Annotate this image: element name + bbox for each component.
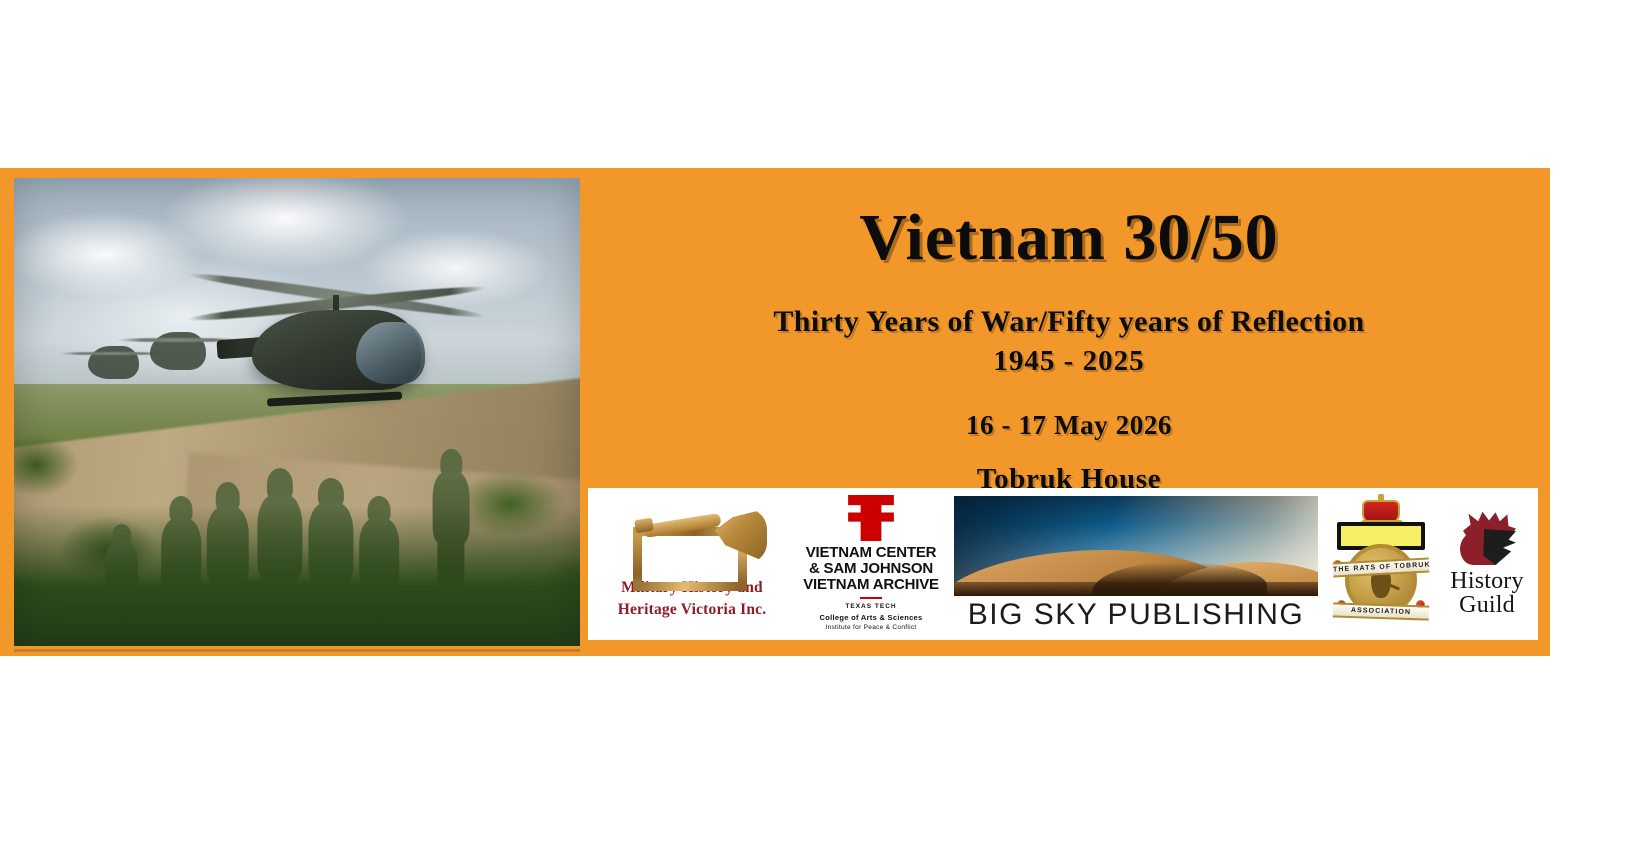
ttu-fine-3: Institute for Peace & Conflict [820, 623, 923, 633]
ttu-fine-print: TEXAS TECH College of Arts & Sciences In… [820, 602, 923, 633]
ttu-line-2: & SAM JOHNSON [803, 561, 939, 577]
photo-bottom-rule [14, 649, 580, 652]
ttu-fine-1: TEXAS TECH [820, 602, 923, 612]
ttu-fine-2: College of Arts & Sciences [820, 612, 923, 623]
logo-military-history-heritage-victoria[interactable]: Military History and Heritage Victoria I… [588, 488, 796, 640]
subtitle: Thirty Years of War/Fifty years of Refle… [600, 305, 1538, 339]
sponsor-logo-strip: Military History and Heritage Victoria I… [588, 488, 1538, 640]
logo-rats-of-tobruk-association[interactable]: THE RATS OF TOBRUK ASSOCIATION [1326, 488, 1436, 640]
spartan-helmet-icon [1456, 511, 1518, 567]
desert-dune-photo [954, 496, 1318, 596]
badge-ribbon-bottom: ASSOCIATION [1333, 602, 1429, 620]
ttu-line-3: VIETNAM ARCHIVE [803, 577, 939, 593]
ttu-line-1: VIETNAM CENTER [803, 545, 939, 561]
landing-skid [267, 391, 402, 406]
mhhv-line-2: Heritage Victoria Inc. [618, 599, 767, 621]
huey-helicopter-icon [240, 258, 432, 412]
rats-of-tobruk-badge-icon: THE RATS OF TOBRUK ASSOCIATION [1331, 500, 1431, 628]
distant-helicopter-icon [150, 332, 207, 369]
year-range: 1945 - 2025 [600, 345, 1538, 378]
page-title: Vietnam 30/50 [600, 204, 1538, 271]
ttu-divider [860, 597, 882, 599]
logo-big-sky-publishing[interactable]: BIG SKY PUBLISHING [946, 488, 1326, 640]
event-banner: Vietnam 30/50 Thirty Years of War/Fifty … [0, 168, 1550, 656]
guild-line-2: Guild [1450, 593, 1523, 617]
guild-line-1: History [1450, 569, 1523, 593]
logo-vietnam-center-sam-johnson-archive[interactable]: VIETNAM CENTER & SAM JOHNSON VIETNAM ARC… [796, 488, 946, 640]
crown-icon [1362, 500, 1400, 524]
banner-text-column: Vietnam 30/50 Thirty Years of War/Fifty … [600, 182, 1538, 496]
big-sky-wordmark: BIG SKY PUBLISHING [968, 598, 1305, 632]
logo-history-guild[interactable]: History Guild [1436, 488, 1538, 640]
distant-helicopter-icon [88, 346, 139, 379]
vietnam-war-photo [14, 178, 580, 646]
photo-foreground-shadow [14, 506, 580, 646]
texas-tech-double-t-icon [845, 495, 897, 541]
bugle-icon [617, 507, 767, 575]
cockpit-glass [356, 322, 425, 384]
ttu-wordmark: VIETNAM CENTER & SAM JOHNSON VIETNAM ARC… [803, 545, 939, 592]
event-dates: 16 - 17 May 2026 [600, 410, 1538, 441]
history-guild-wordmark: History Guild [1450, 569, 1523, 617]
photo-canvas [14, 178, 580, 646]
